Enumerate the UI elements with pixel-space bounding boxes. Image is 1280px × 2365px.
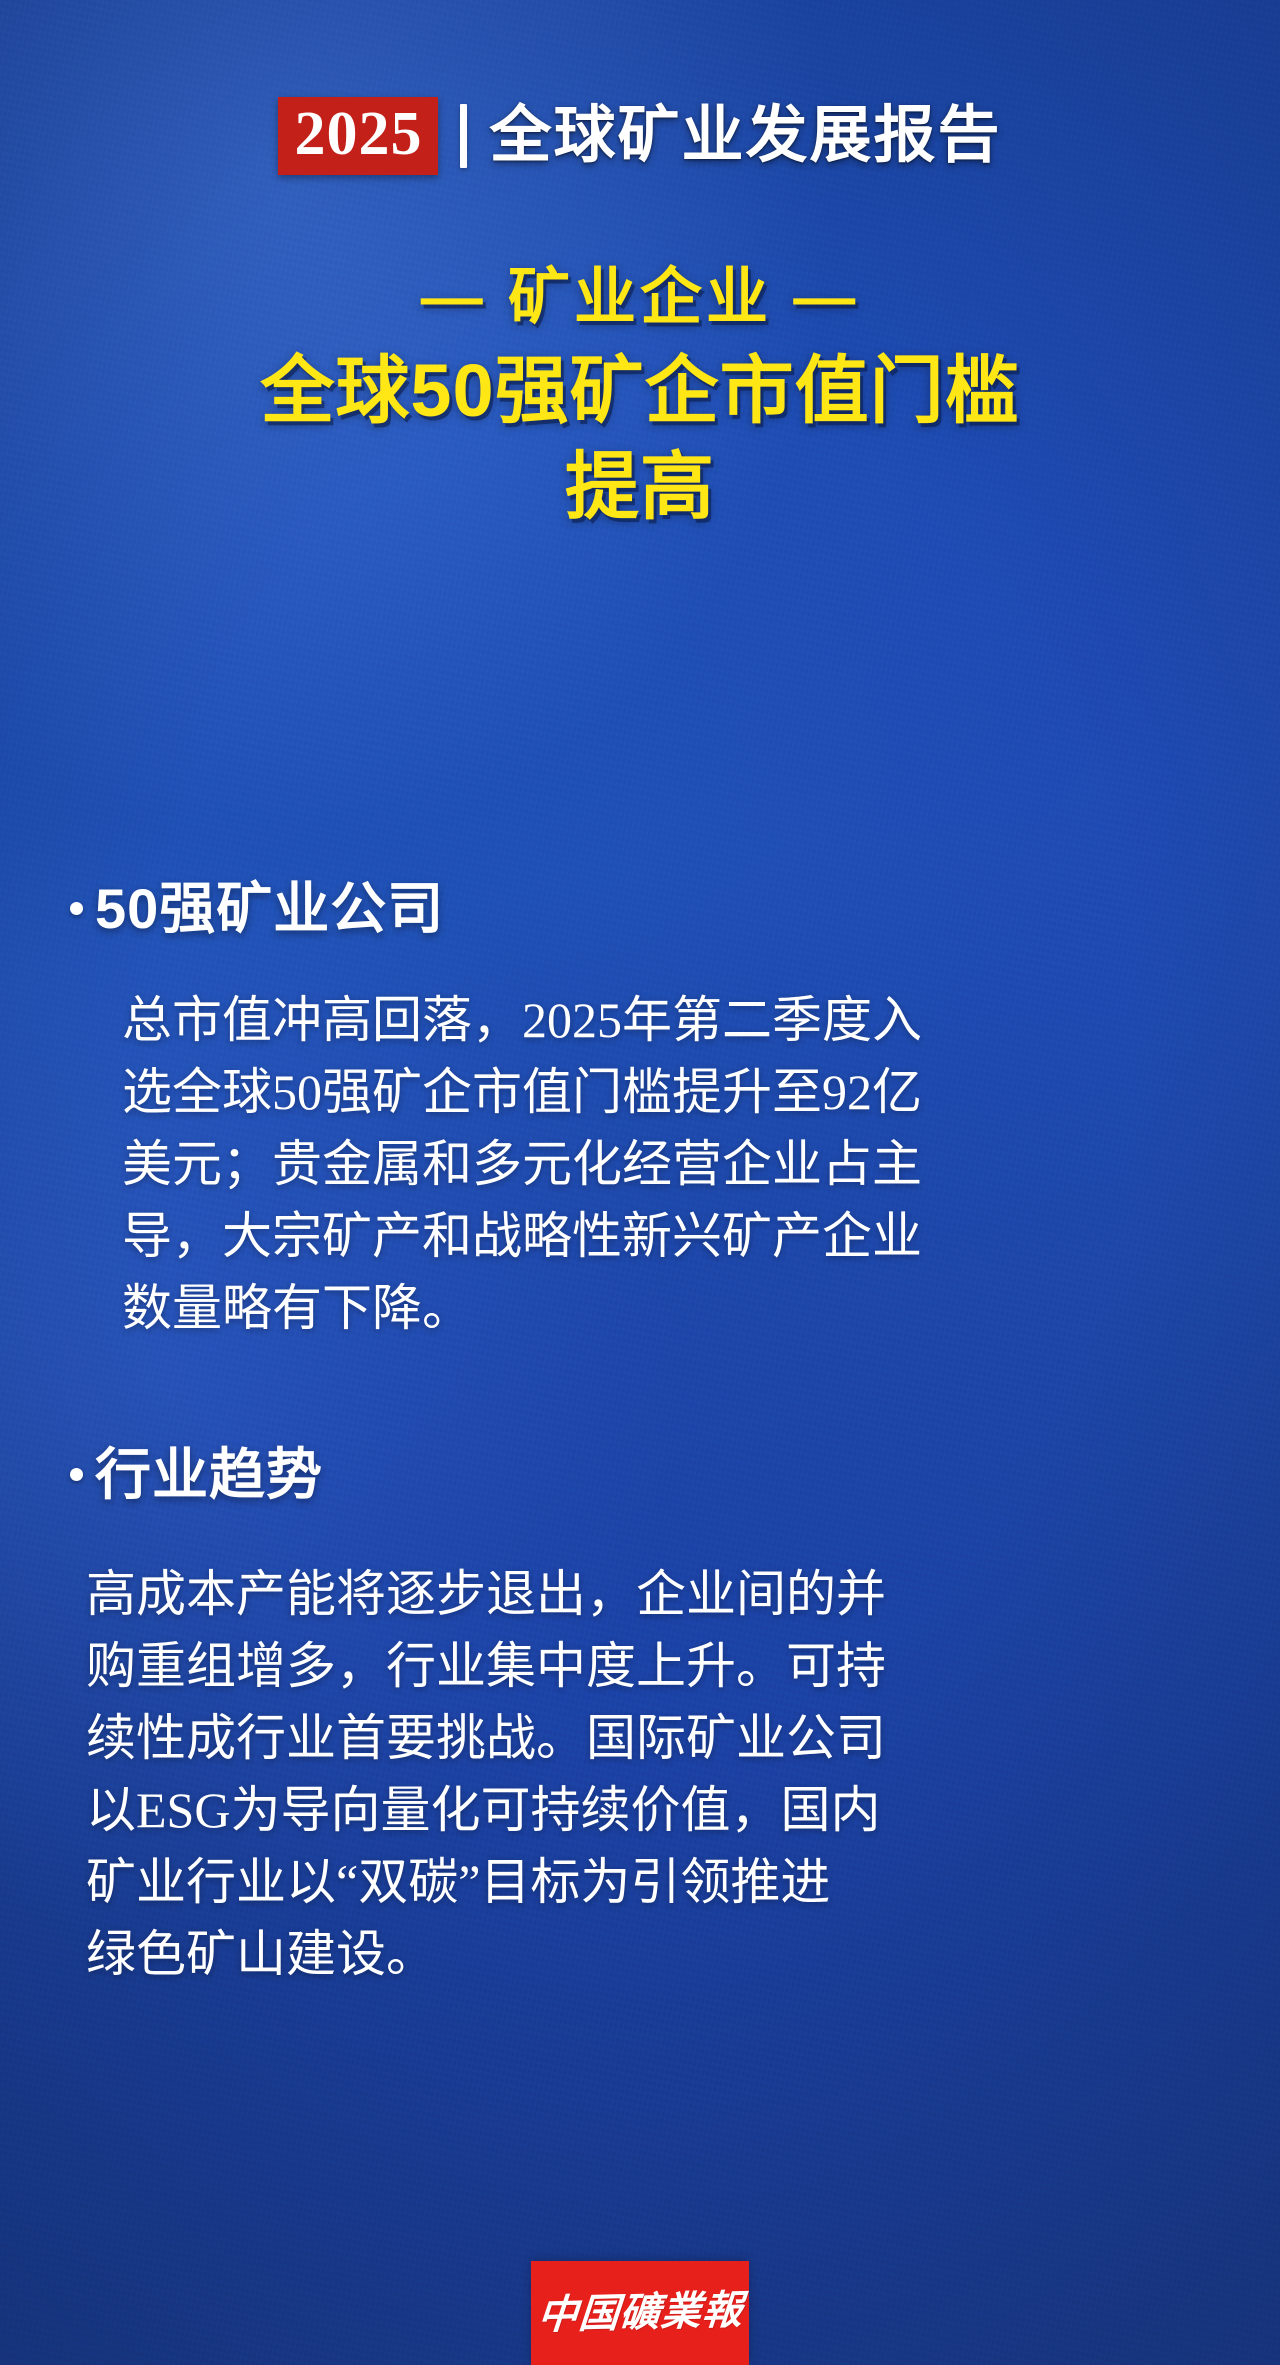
poster-canvas: 2025 全球矿业发展报告 — 矿业企业 — 全球50强矿企市值门槛 提高 50… — [0, 0, 1280, 2365]
section-2-body-line-3: 续性成行业首要挑战。国际矿业公司 — [86, 1702, 786, 1774]
bullet-dot-icon — [70, 902, 83, 915]
section-1-body-line-3: 美元；贵金属和多元化经营企业占主 — [122, 1128, 822, 1200]
section-1-body: 总市值冲高回落，2025年第二季度入 选全球50强矿企市值门槛提升至92亿 美元… — [122, 984, 822, 1344]
publisher-logo: 中国礦業報 — [531, 2261, 749, 2365]
hero-headline: 全球50强矿企市值门槛 提高 — [0, 343, 1280, 535]
section-top50-mining-companies: 50强矿业公司 总市值冲高回落，2025年第二季度入 选全球50强矿企市值门槛提… — [0, 878, 1280, 1344]
section-1-body-line-4: 导，大宗矿产和战略性新兴矿产企业 — [122, 1200, 822, 1272]
poster-header: 2025 全球矿业发展报告 — [0, 88, 1280, 184]
hero-title-block: — 矿业企业 — 全球50强矿企市值门槛 提高 — [0, 258, 1280, 535]
poster-footer: 中国礦業報 — [0, 2225, 1280, 2365]
hero-headline-line-2: 提高 — [0, 439, 1280, 535]
section-1-body-line-1: 总市值冲高回落，2025年第二季度入 — [122, 984, 822, 1056]
section-2-body-line-1: 高成本产能将逐步退出，企业间的并 — [86, 1558, 786, 1630]
bullet-dot-icon — [70, 1468, 83, 1481]
section-1-heading: 50强矿业公司 — [0, 878, 1280, 940]
year-badge: 2025 — [278, 97, 438, 175]
hero-kicker: — 矿业企业 — — [0, 258, 1280, 339]
section-industry-trends: 行业趋势 高成本产能将逐步退出，企业间的并 购重组增多，行业集中度上升。可持 续… — [0, 1444, 1280, 1990]
header-divider-icon — [460, 104, 467, 168]
section-2-body-line-6: 绿色矿山建设。 — [86, 1918, 786, 1990]
section-2-body-line-5: 矿业行业以“双碳”目标为引领推进 — [86, 1846, 786, 1918]
hero-headline-line-1: 全球50强矿企市值门槛 — [0, 343, 1280, 439]
section-1-body-line-5: 数量略有下降。 — [122, 1272, 822, 1344]
publisher-logo-text: 中国礦業報 — [536, 2290, 745, 2335]
section-2-heading: 行业趋势 — [0, 1444, 1280, 1506]
section-1-heading-label: 50强矿业公司 — [95, 878, 444, 940]
section-2-body-line-2: 购重组增多，行业集中度上升。可持 — [86, 1630, 786, 1702]
section-2-body: 高成本产能将逐步退出，企业间的并 购重组增多，行业集中度上升。可持 续性成行业首… — [86, 1558, 786, 1990]
section-2-body-line-4: 以ESG为导向量化可持续价值，国内 — [86, 1774, 786, 1846]
section-2-heading-label: 行业趋势 — [95, 1444, 323, 1506]
report-title: 全球矿业发展报告 — [489, 105, 1001, 167]
section-1-body-line-2: 选全球50强矿企市值门槛提升至92亿 — [122, 1056, 822, 1128]
